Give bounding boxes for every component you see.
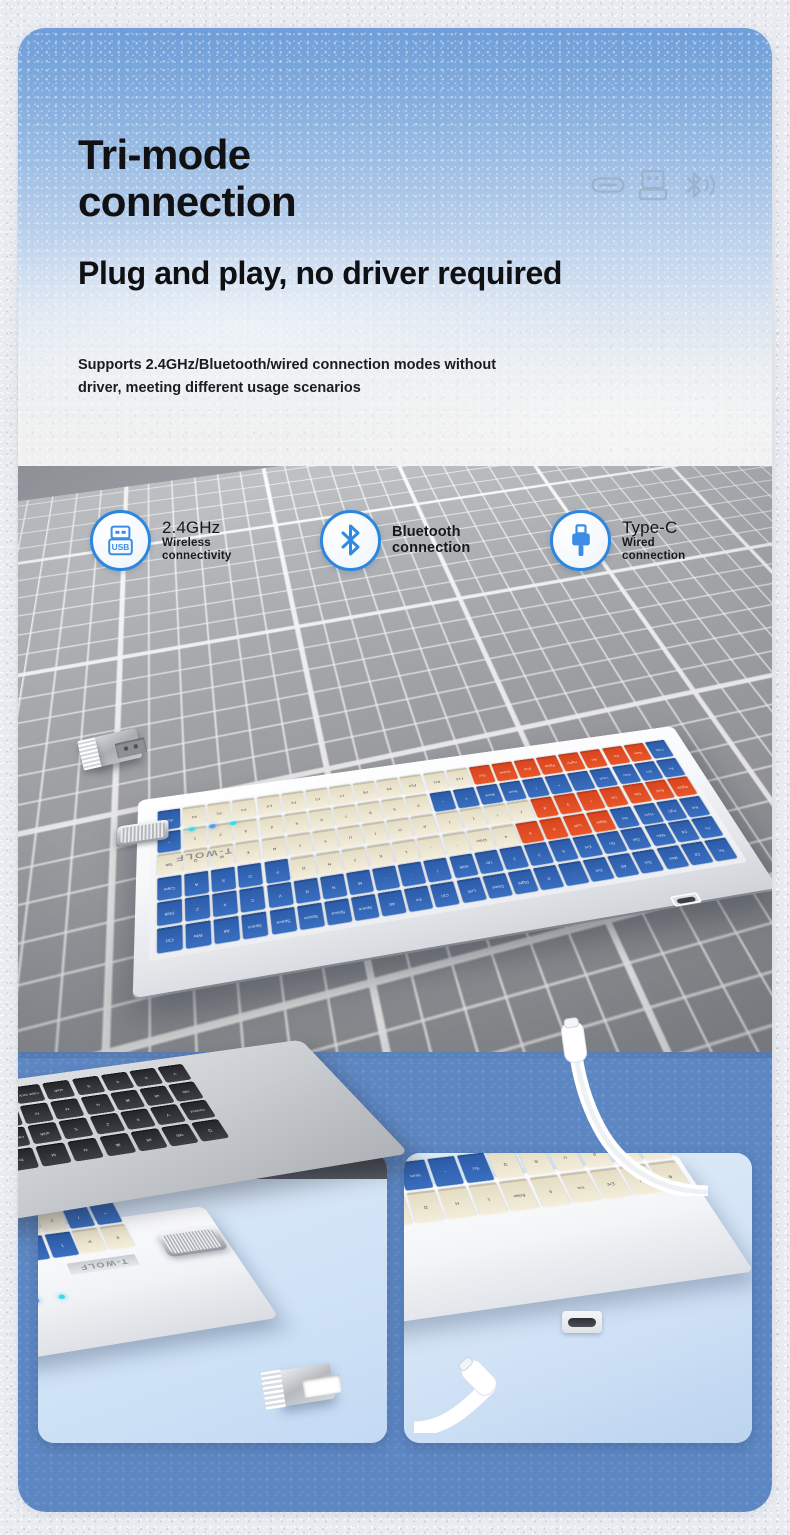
hero-description: Supports 2.4GHz/Bluetooth/wired connecti…: [78, 354, 498, 399]
keycap: F3: [232, 798, 256, 820]
laptop-keycap: Z: [89, 1113, 125, 1135]
panel-1-dongle-slot: [302, 1374, 342, 1398]
laptop-keycap: shift: [27, 1122, 62, 1144]
badge-text-bluetooth: Bluetooth connection: [392, 524, 470, 556]
keycap: I: [362, 822, 389, 845]
badge-text-2-4ghz: 2.4GHz Wireless connectivity: [162, 518, 232, 563]
laptop-keycap: M: [50, 1098, 85, 1119]
badge-type-c[interactable]: Type-C Wired connection: [550, 510, 685, 571]
keycap: Caps: [157, 875, 182, 901]
laptop-keycap: X: [119, 1109, 155, 1130]
badge-circle-type-c: [550, 510, 611, 571]
badge-sub-2-4ghz-line2: connectivity: [162, 550, 232, 563]
keycap: =: [452, 787, 480, 808]
keycap: 4: [259, 815, 284, 838]
keycap: F9: [376, 778, 402, 799]
laptop-keycap: M: [35, 1142, 72, 1166]
keycap: P: [411, 814, 439, 837]
panel-2-usb-c-port: [562, 1311, 602, 1333]
keycap: Fn: [404, 885, 434, 912]
keycap: Y: [312, 829, 338, 853]
panel-1-led-2: [58, 1294, 66, 1299]
keycap: Down: [482, 873, 513, 899]
keycap: C: [239, 886, 266, 913]
badge-title-bluetooth: Bluetooth: [392, 524, 470, 540]
page-subtitle: Plug and play, no driver required: [78, 255, 562, 292]
keycap: Ctrl: [157, 925, 183, 954]
keycap: Back: [476, 784, 504, 805]
keycap: Space: [324, 898, 353, 926]
panel-2-type-c-cable: [414, 1343, 594, 1433]
badge-sub-2-4ghz-line1: Wireless: [162, 537, 232, 550]
keycap: Space: [269, 907, 297, 935]
keycap: Shift: [449, 854, 479, 879]
keycap: F5: [281, 791, 306, 813]
keycap: 6: [309, 808, 335, 831]
keycap: F8: [353, 781, 379, 802]
keycap: D: [238, 863, 264, 889]
keycap: J: [341, 847, 368, 872]
keycap: S: [211, 867, 236, 893]
badge-bluetooth[interactable]: Bluetooth connection: [320, 510, 550, 571]
type-c-port-panel: 8-Num-ScrQRUP\9DelCapsDHLEnter6InsEntXB: [404, 1153, 753, 1443]
hero-title-block: Tri-mode connection Plug and play, no dr…: [78, 131, 562, 292]
keycap: Shift: [157, 899, 182, 927]
dongle-usb-contacts: [115, 737, 148, 758]
keycap: E: [236, 840, 261, 864]
keycap: F10: [400, 775, 426, 796]
badge-sub-bluetooth: connection: [392, 540, 470, 556]
keycap: F2: [208, 802, 232, 824]
keycap: Ctrl: [430, 881, 460, 908]
keycap: U: [337, 825, 364, 848]
keycap: Z: [185, 895, 211, 922]
page-title-line-1: Tri-mode: [78, 131, 562, 178]
laptop-keycap: ⌘: [99, 1133, 137, 1157]
keycap: -: [429, 791, 456, 813]
laptop-keycap: shift: [42, 1080, 76, 1100]
keycap: Up: [474, 850, 504, 875]
keycap: M: [346, 870, 374, 896]
keycap: ': [442, 832, 471, 856]
keycap: F4: [257, 795, 281, 817]
keycap: Win: [185, 920, 211, 949]
badge-title-2-4ghz: 2.4GHz: [162, 518, 232, 537]
keycap: ,: [372, 866, 401, 892]
keycap: N: [320, 874, 348, 900]
keycap: .: [398, 862, 427, 887]
laptop-keycap: Z: [100, 1072, 134, 1091]
usb-dongle-icon: USB: [107, 525, 134, 556]
type-c-port-icon: [591, 175, 625, 200]
keycap: 3: [234, 819, 258, 842]
laptop-keycap: X: [129, 1068, 163, 1087]
keycap: 0: [405, 794, 432, 816]
bluetooth-signal-icon: [681, 168, 717, 207]
keycap: Alt: [214, 916, 241, 945]
bluetooth-icon: [337, 524, 365, 556]
product-feature-card: Tri-mode connection Plug and play, no dr…: [18, 28, 772, 1512]
keycap: 5: [284, 811, 309, 834]
keycap: V: [266, 882, 293, 909]
keycap: F: [264, 859, 290, 884]
keycap: ;: [417, 836, 445, 860]
laptop-keycap: ⌘: [109, 1089, 145, 1110]
badge-2-4ghz[interactable]: USB 2.4GHz Wireless connectivity: [90, 510, 320, 571]
keycap: Space: [351, 894, 380, 921]
hero-icon-row: [591, 168, 717, 207]
laptop-keycap: S: [71, 1076, 105, 1096]
feature-badge-row: USB 2.4GHz Wireless connectivity Bluetoo…: [18, 500, 772, 580]
keycap: L: [392, 839, 420, 863]
badge-circle-bluetooth: [320, 510, 381, 571]
keycap: Space: [297, 903, 325, 931]
keycap: [: [435, 811, 463, 834]
keycap: F1: [183, 805, 206, 827]
badge-sub-type-c-line2: connection: [622, 550, 685, 563]
keycap: Enter: [466, 828, 495, 852]
keycap: 7: [333, 804, 359, 826]
keycap: R: [261, 836, 287, 860]
badge-circle-2-4ghz: USB: [90, 510, 151, 571]
keycap: T: [287, 833, 313, 857]
laptop-keycap: N: [67, 1137, 104, 1161]
keycap: F6: [305, 788, 330, 810]
type-c-plug-icon: [568, 524, 594, 557]
keycap: 8: [357, 801, 383, 823]
laptop-keycap: S: [58, 1117, 94, 1139]
keycap: F11: [423, 771, 449, 792]
keycap: H: [316, 851, 343, 876]
keycap: Space: [242, 911, 269, 939]
keycap: Left: [456, 877, 487, 903]
badge-text-type-c: Type-C Wired connection: [622, 518, 685, 563]
keycap: Del: [469, 765, 496, 785]
svg-text:USB: USB: [112, 542, 130, 552]
laptop-keycap: caps lock: [18, 1084, 46, 1104]
keycap: 9: [381, 797, 408, 819]
keycap: F12: [446, 768, 473, 789]
keycap: A: [184, 871, 209, 897]
keycap: X: [212, 891, 238, 918]
page-title: Tri-mode connection: [78, 131, 562, 225]
laptop-keycap: fn: [20, 1102, 54, 1124]
keycap: B: [293, 878, 320, 904]
badge-title-type-c: Type-C: [622, 518, 685, 537]
page-title-line-2: connection: [78, 178, 562, 225]
keycap: K: [367, 843, 395, 867]
keycap: Alt: [377, 890, 406, 917]
keycap: ]: [459, 807, 487, 830]
keycap: O: [387, 818, 414, 841]
keycap: G: [290, 855, 317, 880]
keycap: F7: [329, 785, 354, 806]
keycap: /: [423, 858, 452, 883]
usb-dongle-icon: [638, 169, 668, 206]
badge-sub-type-c-line1: Wired: [622, 537, 685, 550]
laptop-keycap: N: [80, 1094, 115, 1115]
